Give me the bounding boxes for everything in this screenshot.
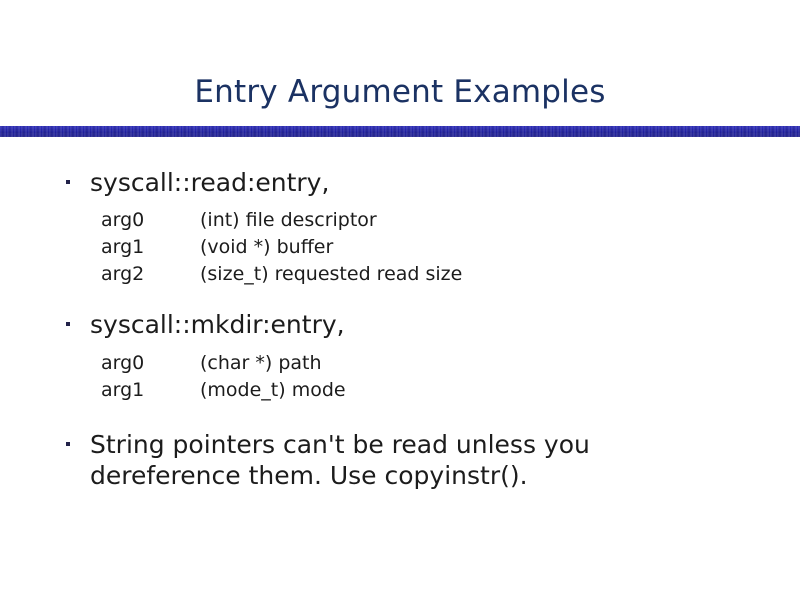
bullet-group-read: syscall::read:entry, arg0 (int) file des… — [0, 137, 800, 288]
bullet-label-mkdir: syscall::mkdir:entry, — [90, 309, 800, 340]
arg-description: (int) file descriptor — [200, 207, 377, 234]
bullet-line-1: String pointers can't be read unless you — [90, 429, 800, 460]
bullet-label-string-pointers: String pointers can't be read unless you… — [90, 429, 800, 491]
list-item: arg1 (mode_t) mode — [0, 377, 800, 404]
bullet-dot-icon — [66, 180, 70, 184]
bullet-line-2: dereference them. Use copyinstr(). — [90, 460, 800, 491]
arg-name: arg1 — [101, 377, 144, 404]
bullet-item-string-pointers: String pointers can't be read unless you… — [0, 429, 800, 491]
arg-description: (void *) buffer — [200, 234, 333, 261]
bullet-dot-icon — [66, 322, 70, 326]
slide-body: syscall::read:entry, arg0 (int) file des… — [0, 137, 800, 491]
page-title: Entry Argument Examples — [0, 72, 800, 112]
list-item: arg1 (void *) buffer — [0, 234, 800, 261]
arg-description: (char *) path — [200, 350, 322, 377]
bullet-group-mkdir: syscall::mkdir:entry, arg0 (char *) path… — [0, 309, 800, 404]
list-item: arg2 (size_t) requested read size — [0, 261, 800, 288]
bullet-item-read: syscall::read:entry, — [0, 167, 800, 198]
list-item: arg0 (int) file descriptor — [0, 207, 800, 234]
arg-name: arg1 — [101, 234, 144, 261]
bullet-dot-icon — [66, 442, 70, 446]
slide: Entry Argument Examples syscall::read:en… — [0, 0, 800, 599]
spacer — [0, 404, 800, 429]
arg-name: arg0 — [101, 350, 144, 377]
arg-list-mkdir: arg0 (char *) path arg1 (mode_t) mode — [0, 350, 800, 404]
bullet-item-mkdir: syscall::mkdir:entry, — [0, 309, 800, 340]
arg-name: arg2 — [101, 261, 144, 288]
spacer — [0, 340, 800, 350]
bullet-label-read: syscall::read:entry, — [90, 167, 800, 198]
arg-name: arg0 — [101, 207, 144, 234]
arg-list-read: arg0 (int) file descriptor arg1 (void *)… — [0, 207, 800, 288]
spacer — [0, 288, 800, 309]
arg-description: (mode_t) mode — [200, 377, 346, 404]
title-divider-bar — [0, 126, 800, 137]
spacer — [0, 198, 800, 207]
arg-description: (size_t) requested read size — [200, 261, 462, 288]
list-item: arg0 (char *) path — [0, 350, 800, 377]
